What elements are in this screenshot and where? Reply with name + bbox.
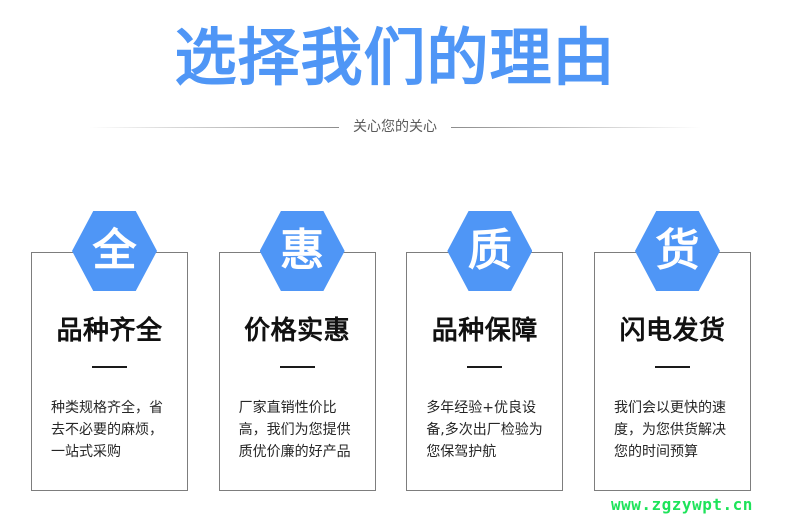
page-title: 选择我们的理由 <box>0 0 790 94</box>
card-divider <box>92 366 127 368</box>
card-divider <box>280 366 315 368</box>
promo-banner: 选择我们的理由 关心您的关心 全 品种齐全 种类规格齐全，省去不必要的麻烦，一站… <box>0 0 790 526</box>
subtitle-row: 关心您的关心 <box>0 118 790 136</box>
subtitle-rule-left <box>89 127 339 128</box>
card-body-text: 我们会以更快的速度，为您供货解决您的时间预算 <box>614 397 736 463</box>
hexagon-badge-label: 质 <box>468 228 512 274</box>
subtitle-rule-right <box>451 127 701 128</box>
banner-header: 选择我们的理由 <box>0 0 790 94</box>
card-body-text: 厂家直销性价比高，我们为您提供质优价廉的好产品 <box>239 397 361 463</box>
feature-card[interactable]: 质 品种保障 多年经验+优良设备,多次出厂检验为您保驾护航 <box>406 211 565 493</box>
feature-card[interactable]: 货 闪电发货 我们会以更快的速度，为您供货解决您的时间预算 <box>594 211 753 493</box>
card-title: 品种齐全 <box>31 316 188 346</box>
hexagon-badge-label: 货 <box>655 228 699 274</box>
card-divider <box>467 366 502 368</box>
feature-card-list: 全 品种齐全 种类规格齐全，省去不必要的麻烦，一站式采购 惠 价格实惠 厂家直销… <box>31 211 753 493</box>
card-body-text: 多年经验+优良设备,多次出厂检验为您保驾护航 <box>426 397 548 463</box>
card-body-text: 种类规格齐全，省去不必要的麻烦，一站式采购 <box>51 397 173 463</box>
card-title: 品种保障 <box>406 316 563 346</box>
hexagon-badge-label: 全 <box>93 228 137 274</box>
feature-card[interactable]: 全 品种齐全 种类规格齐全，省去不必要的麻烦，一站式采购 <box>31 211 190 493</box>
card-title: 闪电发货 <box>594 316 751 346</box>
site-watermark: www.zgzywpt.cn <box>611 495 753 515</box>
feature-card[interactable]: 惠 价格实惠 厂家直销性价比高，我们为您提供质优价廉的好产品 <box>219 211 378 493</box>
card-divider <box>655 366 690 368</box>
hexagon-badge-label: 惠 <box>280 228 324 274</box>
subtitle-text: 关心您的关心 <box>353 118 437 136</box>
card-title: 价格实惠 <box>219 316 376 346</box>
